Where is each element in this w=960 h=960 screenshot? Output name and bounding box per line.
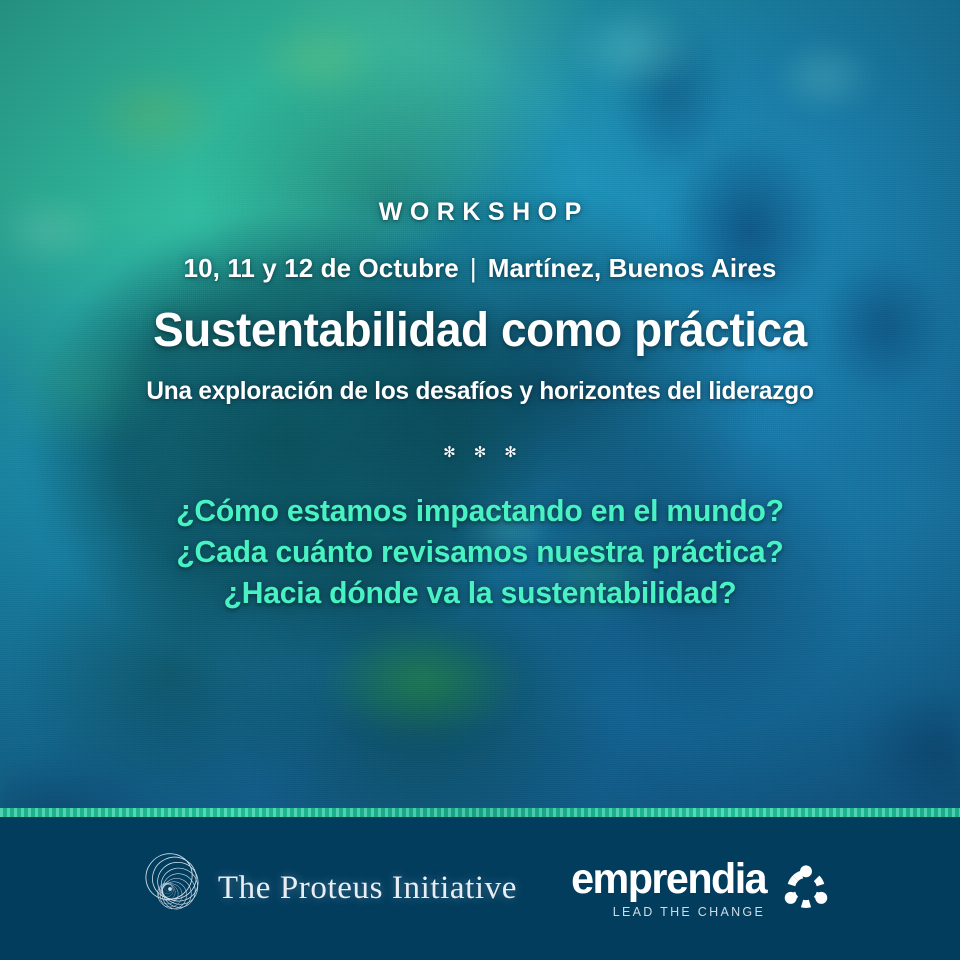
emprendia-tagline: LEAD THE CHANGE: [613, 906, 765, 919]
proteus-wordmark: The Proteus Initiative: [218, 870, 517, 907]
page-title: Sustentabilidad como práctica: [22, 303, 939, 358]
star-icon: ✻: [443, 445, 456, 460]
event-date: 10, 11 y 12 de Octubre: [184, 253, 459, 283]
star-icon: ✻: [474, 445, 487, 460]
proteus-logo-lockup: The Proteus Initiative: [128, 847, 517, 931]
emprendia-wordmark-block: emprendia LEAD THE CHANGE: [563, 858, 766, 919]
event-location: Martínez, Buenos Aires: [488, 253, 777, 283]
emprendia-wordmark: emprendia: [571, 858, 766, 901]
event-dateline: 10, 11 y 12 de Octubre|Martínez, Buenos …: [0, 253, 960, 284]
poster-canvas: WORKSHOP 10, 11 y 12 de Octubre|Martínez…: [0, 0, 960, 960]
star-divider: ✻ ✻ ✻: [0, 441, 960, 463]
eyebrow-label: WORKSHOP: [0, 198, 960, 227]
question-line: ¿Cómo estamos impactando en el mundo?: [14, 493, 945, 529]
poster-content: WORKSHOP 10, 11 y 12 de Octubre|Martínez…: [0, 0, 960, 808]
mandala-spiral-icon: [128, 847, 212, 931]
triad-ring-icon: [780, 863, 832, 915]
emprendia-logo-lockup: emprendia LEAD THE CHANGE: [563, 858, 832, 919]
teal-divider-band: [0, 808, 960, 817]
footer-bar: The Proteus Initiative emprendia LEAD TH…: [0, 817, 960, 960]
question-line: ¿Cada cuánto revisamos nuestra práctica?: [14, 534, 945, 570]
dateline-separator: |: [459, 253, 488, 284]
logo-row: The Proteus Initiative emprendia LEAD TH…: [0, 817, 960, 960]
page-subtitle: Una exploración de los desafíos y horizo…: [12, 377, 948, 406]
star-icon: ✻: [504, 445, 517, 460]
question-line: ¿Hacia dónde va la sustentabilidad?: [14, 575, 945, 611]
